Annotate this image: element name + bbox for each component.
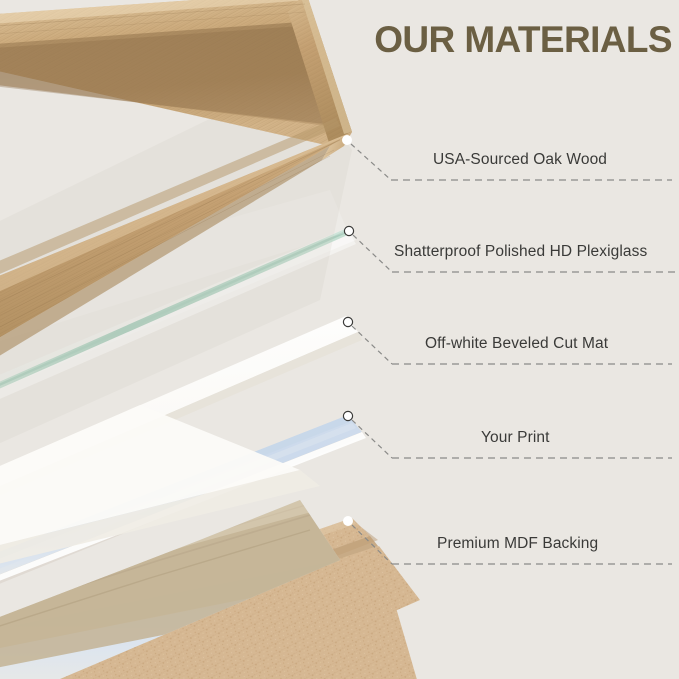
page-title: OUR MATERIALS	[360, 18, 672, 62]
callout-marker-plexiglass	[344, 226, 353, 235]
infographic-canvas: OUR MATERIALS USA-Sourced Oak Wood Shatt…	[0, 0, 679, 679]
callout-marker-mat	[343, 317, 352, 326]
exploded-frame-illustration	[0, 0, 679, 679]
callout-marker-mdf-backing	[343, 516, 353, 526]
callout-marker-oak-wood	[342, 135, 352, 145]
callout-marker-print	[343, 411, 352, 420]
